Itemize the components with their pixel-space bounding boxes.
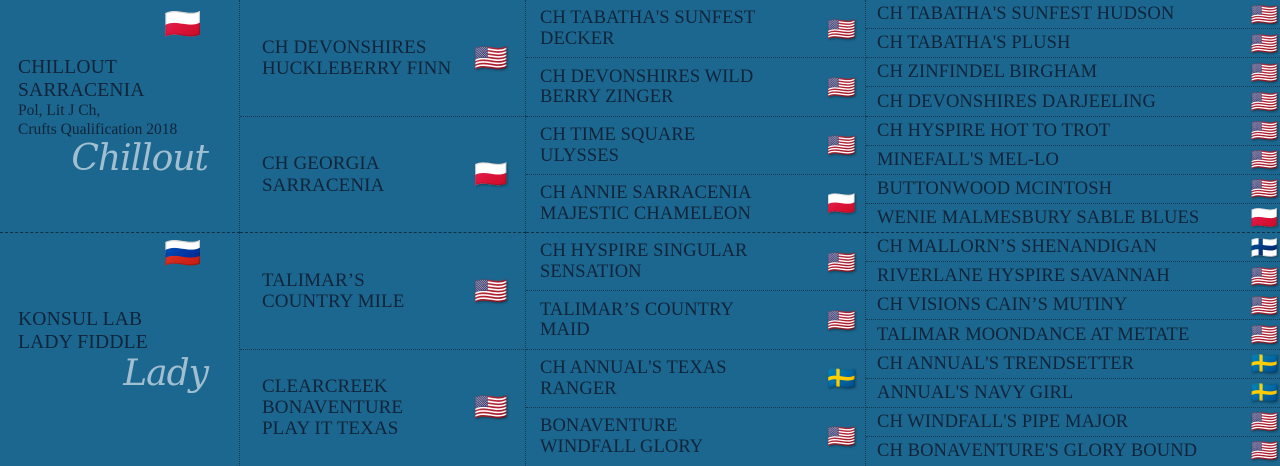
pedigree-cell-g3-2[interactable]: CH DEVONSHIRES WILD BERRY ZINGER 🇺🇸 <box>526 58 866 116</box>
dog-name: CH BONAVENTURE'S GLORY BOUND <box>877 441 1197 462</box>
pedigree-cell-g3-4[interactable]: CH ANNIE SARRACENIA MAJESTIC CHAMELEON 🇵… <box>526 175 866 233</box>
flag-usa-icon: 🇺🇸 <box>1251 324 1278 346</box>
pedigree-cell-g2-1[interactable]: CH DEVONSHIRES HUCKLEBERRY FINN 🇺🇸 <box>240 0 526 117</box>
dog-name: CH WINDFALL'S PIPE MAJOR <box>877 412 1128 433</box>
dog-name: WENIE MALMESBURY SABLE BLUES <box>877 208 1199 229</box>
dog-name: BUTTONWOOD MCINTOSH <box>877 179 1112 200</box>
dog-name-line2: BERRY ZINGER <box>540 87 753 108</box>
pedigree-cell-g4-12[interactable]: TALIMAR MOONDANCE AT METATE 🇺🇸 <box>866 320 1280 349</box>
dog-name-line2: DECKER <box>540 29 755 50</box>
flag-usa-icon: 🇺🇸 <box>1251 120 1278 142</box>
flag-poland-icon: 🇵🇱 <box>164 10 201 40</box>
pedigree-cell-g2-2[interactable]: CH GEORGIA SARRACENIA 🇵🇱 <box>240 117 526 234</box>
pedigree-cell-g2-3[interactable]: TALIMAR’S COUNTRY MILE 🇺🇸 <box>240 233 526 350</box>
dog-name-line1: CH TIME SQUARE <box>540 125 695 146</box>
pedigree-cell-g3-5[interactable]: CH HYSPIRE SINGULAR SENSATION 🇺🇸 <box>526 233 866 291</box>
pedigree-cell-g3-1[interactable]: CH TABATHA'S SUNFEST DECKER 🇺🇸 <box>526 0 866 58</box>
dog-name: CH TIME SQUARE ULYSSES <box>540 125 695 166</box>
flag-usa-icon: 🇺🇸 <box>1251 178 1278 200</box>
subject-name-line2: SARRACENIA <box>18 79 226 102</box>
subject-call-name-script: Chillout <box>14 141 226 177</box>
dam-name-line1: KONSUL LAB <box>18 308 226 331</box>
dog-name: CH TABATHA'S SUNFEST HUDSON <box>877 4 1174 25</box>
dog-name: CH DEVONSHIRES DARJEELING <box>877 92 1156 113</box>
pedigree-cell-g2-4[interactable]: CLEARCREEK BONAVENTURE PLAY IT TEXAS 🇺🇸 <box>240 350 526 466</box>
dog-name: CH DEVONSHIRES HUCKLEBERRY FINN <box>262 37 451 80</box>
dog-name-line2: MAID <box>540 320 734 341</box>
dog-name: CH ANNIE SARRACENIA MAJESTIC CHAMELEON <box>540 183 752 224</box>
pedigree-cell-g3-3[interactable]: CH TIME SQUARE ULYSSES 🇺🇸 <box>526 117 866 175</box>
dam-name-line2: LADY FIDDLE <box>18 331 226 354</box>
dog-name: ANNUAL'S NAVY GIRL <box>877 383 1073 404</box>
pedigree-cell-g3-6[interactable]: TALIMAR’S COUNTRY MAID 🇺🇸 <box>526 291 866 349</box>
flag-usa-icon: 🇺🇸 <box>827 309 856 332</box>
dog-name: CH ANNUAL'S TRENDSETTER <box>877 354 1134 375</box>
subject-name-line1: CHILLOUT <box>18 56 226 79</box>
pedigree-cell-g4-3[interactable]: CH ZINFINDEL BIRGHAM 🇺🇸 <box>866 58 1280 87</box>
flag-usa-icon: 🇺🇸 <box>1251 295 1278 317</box>
flag-usa-icon: 🇺🇸 <box>827 251 856 274</box>
dog-name: CH HYSPIRE SINGULAR SENSATION <box>540 241 747 282</box>
dog-name: RIVERLANE HYSPIRE SAVANNAH <box>877 266 1170 287</box>
pedigree-chart: 🇵🇱 CHILLOUT SARRACENIA Pol, Lit J Ch, Cr… <box>0 0 1280 466</box>
dog-name: CH DEVONSHIRES WILD BERRY ZINGER <box>540 67 753 108</box>
flag-usa-icon: 🇺🇸 <box>1251 411 1278 433</box>
pedigree-cell-g4-11[interactable]: CH VISIONS CAIN’S MUTINY 🇺🇸 <box>866 291 1280 320</box>
flag-usa-icon: 🇺🇸 <box>1251 440 1278 462</box>
pedigree-cell-subject-dam[interactable]: 🇷🇺 KONSUL LAB LADY FIDDLE Lady <box>0 233 240 466</box>
dog-name-line1: CH ANNUAL'S TEXAS <box>540 358 727 379</box>
pedigree-cell-g4-7[interactable]: BUTTONWOOD MCINTOSH 🇺🇸 <box>866 175 1280 204</box>
flag-sweden-icon: 🇸🇪 <box>827 367 856 390</box>
dog-name: CH VISIONS CAIN’S MUTINY <box>877 295 1127 316</box>
dog-name-line1: CH GEORGIA <box>262 153 384 174</box>
dog-name-line2: RANGER <box>540 379 727 400</box>
dog-name-line2: SARRACENIA <box>262 175 384 196</box>
pedigree-cell-g4-14[interactable]: ANNUAL'S NAVY GIRL 🇸🇪 <box>866 379 1280 408</box>
dog-name-line1: CH DEVONSHIRES <box>262 37 451 58</box>
dog-name-line1: CH TABATHA'S SUNFEST <box>540 8 755 29</box>
flag-usa-icon: 🇺🇸 <box>1251 4 1278 26</box>
dog-name: CH GEORGIA SARRACENIA <box>262 153 384 196</box>
generation-2-column: CH DEVONSHIRES HUCKLEBERRY FINN 🇺🇸 CH GE… <box>240 0 526 466</box>
dog-name-line1: CH HYSPIRE SINGULAR <box>540 241 747 262</box>
pedigree-cell-g4-10[interactable]: RIVERLANE HYSPIRE SAVANNAH 🇺🇸 <box>866 262 1280 291</box>
dog-name: TALIMAR’S COUNTRY MAID <box>540 300 734 341</box>
flag-usa-icon: 🇺🇸 <box>474 45 508 72</box>
flag-usa-icon: 🇺🇸 <box>474 278 508 305</box>
flag-usa-icon: 🇺🇸 <box>827 18 856 41</box>
dog-name: MINEFALL'S MEL-LO <box>877 150 1059 171</box>
pedigree-cell-g4-2[interactable]: CH TABATHA'S PLUSH 🇺🇸 <box>866 29 1280 58</box>
dog-name: CH ANNUAL'S TEXAS RANGER <box>540 358 727 399</box>
flag-sweden-icon: 🇸🇪 <box>1251 353 1278 375</box>
dog-name-line1: TALIMAR’S <box>262 270 404 291</box>
dog-name-line1: TALIMAR’S COUNTRY <box>540 300 734 321</box>
dog-name: CH ZINFINDEL BIRGHAM <box>877 62 1097 83</box>
dog-name: CH TABATHA'S PLUSH <box>877 33 1071 54</box>
dog-name-line2: COUNTRY MILE <box>262 291 404 312</box>
dog-name-line2: BONAVENTURE <box>262 397 403 418</box>
pedigree-cell-g4-13[interactable]: CH ANNUAL'S TRENDSETTER 🇸🇪 <box>866 350 1280 379</box>
subject-block-dam: 🇷🇺 KONSUL LAB LADY FIDDLE Lady <box>14 233 226 466</box>
pedigree-cell-g4-1[interactable]: CH TABATHA'S SUNFEST HUDSON 🇺🇸 <box>866 0 1280 29</box>
dog-name: TALIMAR’S COUNTRY MILE <box>262 270 404 313</box>
dog-name-line2: ULYSSES <box>540 146 695 167</box>
flag-russia-icon: 🇷🇺 <box>164 239 201 269</box>
dog-name-line2: WINDFALL GLORY <box>540 437 703 458</box>
pedigree-cell-g4-5[interactable]: CH HYSPIRE HOT TO TROT 🇺🇸 <box>866 117 1280 146</box>
pedigree-cell-subject-sire[interactable]: 🇵🇱 CHILLOUT SARRACENIA Pol, Lit J Ch, Cr… <box>0 0 240 233</box>
flag-poland-icon: 🇵🇱 <box>1251 207 1278 229</box>
dog-name: BONAVENTURE WINDFALL GLORY <box>540 416 703 457</box>
flag-usa-icon: 🇺🇸 <box>474 394 508 421</box>
dog-name-line1: CH ANNIE SARRACENIA <box>540 183 752 204</box>
dog-name: CH HYSPIRE HOT TO TROT <box>877 121 1110 142</box>
subject-titles-line1: Pol, Lit J Ch, <box>18 102 226 121</box>
pedigree-cell-g4-9[interactable]: CH MALLORN’S SHENANDIGAN 🇫🇮 <box>866 233 1280 262</box>
dog-name: TALIMAR MOONDANCE AT METATE <box>877 325 1189 346</box>
pedigree-cell-g4-15[interactable]: CH WINDFALL'S PIPE MAJOR 🇺🇸 <box>866 408 1280 437</box>
pedigree-cell-g4-4[interactable]: CH DEVONSHIRES DARJEELING 🇺🇸 <box>866 87 1280 116</box>
pedigree-cell-g4-8[interactable]: WENIE MALMESBURY SABLE BLUES 🇵🇱 <box>866 204 1280 233</box>
dog-name-line2: MAJESTIC CHAMELEON <box>540 204 752 225</box>
flag-usa-icon: 🇺🇸 <box>827 425 856 448</box>
dog-name-line1: CLEARCREEK <box>262 376 403 397</box>
flag-poland-icon: 🇵🇱 <box>474 161 508 188</box>
dog-name-line2: SENSATION <box>540 262 747 283</box>
dog-name: CH TABATHA'S SUNFEST DECKER <box>540 8 755 49</box>
subject-block-sire: 🇵🇱 CHILLOUT SARRACENIA Pol, Lit J Ch, Cr… <box>14 0 226 233</box>
dog-name-line3: PLAY IT TEXAS <box>262 418 403 439</box>
flag-usa-icon: 🇺🇸 <box>827 134 856 157</box>
flag-usa-icon: 🇺🇸 <box>1251 33 1278 55</box>
dog-name: CH MALLORN’S SHENANDIGAN <box>877 237 1157 258</box>
flag-poland-icon: 🇵🇱 <box>827 192 856 215</box>
flag-usa-icon: 🇺🇸 <box>1251 91 1278 113</box>
generation-3-column: CH TABATHA'S SUNFEST DECKER 🇺🇸 CH DEVONS… <box>526 0 866 466</box>
generation-4-column: CH TABATHA'S SUNFEST HUDSON 🇺🇸 CH TABATH… <box>866 0 1280 466</box>
dam-call-name-script: Lady <box>14 356 226 392</box>
dog-name: CLEARCREEK BONAVENTURE PLAY IT TEXAS <box>262 376 403 440</box>
subject-titles-line2: Crufts Qualification 2018 <box>18 121 226 140</box>
pedigree-cell-g4-6[interactable]: MINEFALL'S MEL-LO 🇺🇸 <box>866 146 1280 175</box>
flag-sweden-icon: 🇸🇪 <box>1251 382 1278 404</box>
flag-usa-icon: 🇺🇸 <box>1251 149 1278 171</box>
flag-usa-icon: 🇺🇸 <box>1251 266 1278 288</box>
flag-usa-icon: 🇺🇸 <box>827 76 856 99</box>
dog-name-line1: CH DEVONSHIRES WILD <box>540 67 753 88</box>
dog-name-line2: HUCKLEBERRY FINN <box>262 58 451 79</box>
generation-1-column: 🇵🇱 CHILLOUT SARRACENIA Pol, Lit J Ch, Cr… <box>0 0 240 466</box>
dog-name-line1: BONAVENTURE <box>540 416 703 437</box>
flag-finland-icon: 🇫🇮 <box>1251 237 1278 259</box>
pedigree-cell-g4-16[interactable]: CH BONAVENTURE'S GLORY BOUND 🇺🇸 <box>866 437 1280 466</box>
flag-usa-icon: 🇺🇸 <box>1251 62 1278 84</box>
pedigree-cell-g3-7[interactable]: CH ANNUAL'S TEXAS RANGER 🇸🇪 <box>526 350 866 408</box>
pedigree-cell-g3-8[interactable]: BONAVENTURE WINDFALL GLORY 🇺🇸 <box>526 408 866 466</box>
